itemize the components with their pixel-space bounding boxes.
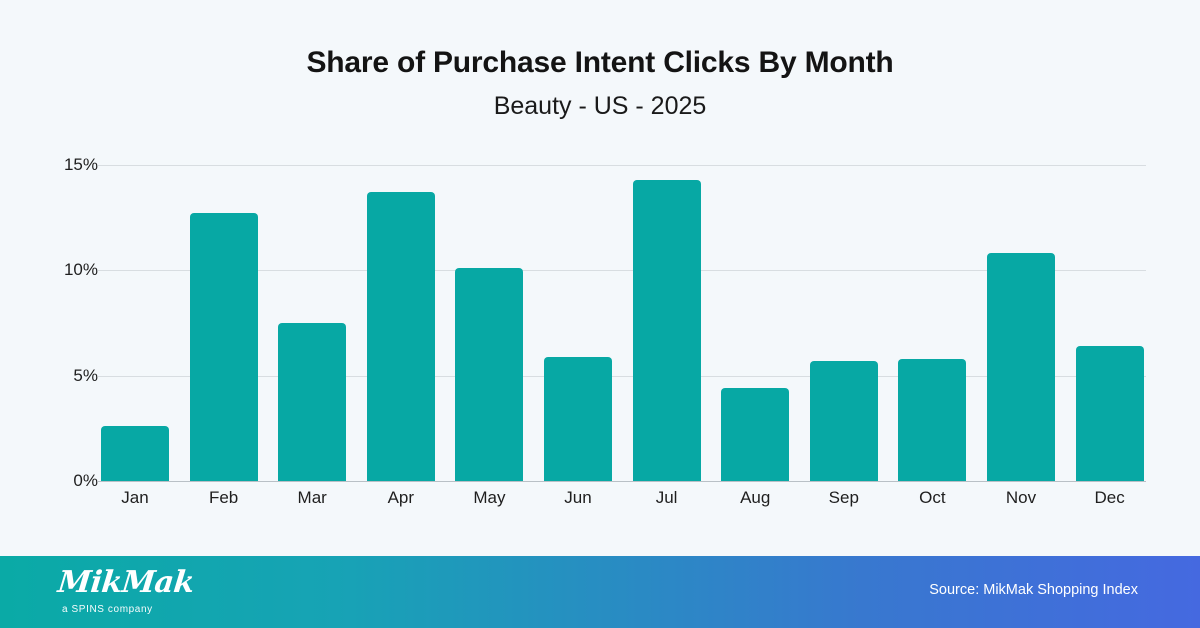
plot-area: 0%5%10%15% JanFebMarAprMayJunJulAugSepOc… [0,136,1200,556]
bar-aug[interactable] [721,388,789,481]
x-axis-label-mar: Mar [267,488,357,508]
x-axis-label-jan: Jan [90,488,180,508]
bar-may[interactable] [455,268,523,481]
bar-oct[interactable] [898,359,966,481]
bar-apr[interactable] [367,192,435,481]
mikmak-logo: MikMak a SPINS company [58,568,288,615]
chart-subtitle: Beauty - US - 2025 [0,79,1200,121]
footer-bar: MikMak a SPINS company Source: MikMak Sh… [0,556,1200,628]
page-title: Share of Purchase Intent Clicks By Month [0,0,1200,79]
x-axis-label-may: May [444,488,534,508]
bar-jul[interactable] [633,180,701,481]
x-axis-label-jun: Jun [533,488,623,508]
chart-page: Share of Purchase Intent Clicks By Month… [0,0,1200,628]
x-axis-label-feb: Feb [179,488,269,508]
x-axis-label-aug: Aug [710,488,800,508]
bar-nov[interactable] [987,253,1055,481]
bar-mar[interactable] [278,323,346,481]
x-axis-label-apr: Apr [356,488,446,508]
x-axis-label-sep: Sep [799,488,889,508]
bar-feb[interactable] [190,213,258,481]
mikmak-tagline: a SPINS company [58,598,288,615]
source-note: Source: MikMak Shopping Index [929,582,1138,598]
bar-jan[interactable] [101,426,169,481]
bar-sep[interactable] [810,361,878,481]
bar-dec[interactable] [1076,346,1144,481]
chart-header: Share of Purchase Intent Clicks By Month… [0,0,1200,136]
x-axis-label-nov: Nov [976,488,1066,508]
x-axis-label-jul: Jul [622,488,712,508]
x-axis-label-oct: Oct [887,488,977,508]
bar-jun[interactable] [544,357,612,481]
x-axis-label-dec: Dec [1065,488,1155,508]
mikmak-wordmark: MikMak [56,568,195,598]
